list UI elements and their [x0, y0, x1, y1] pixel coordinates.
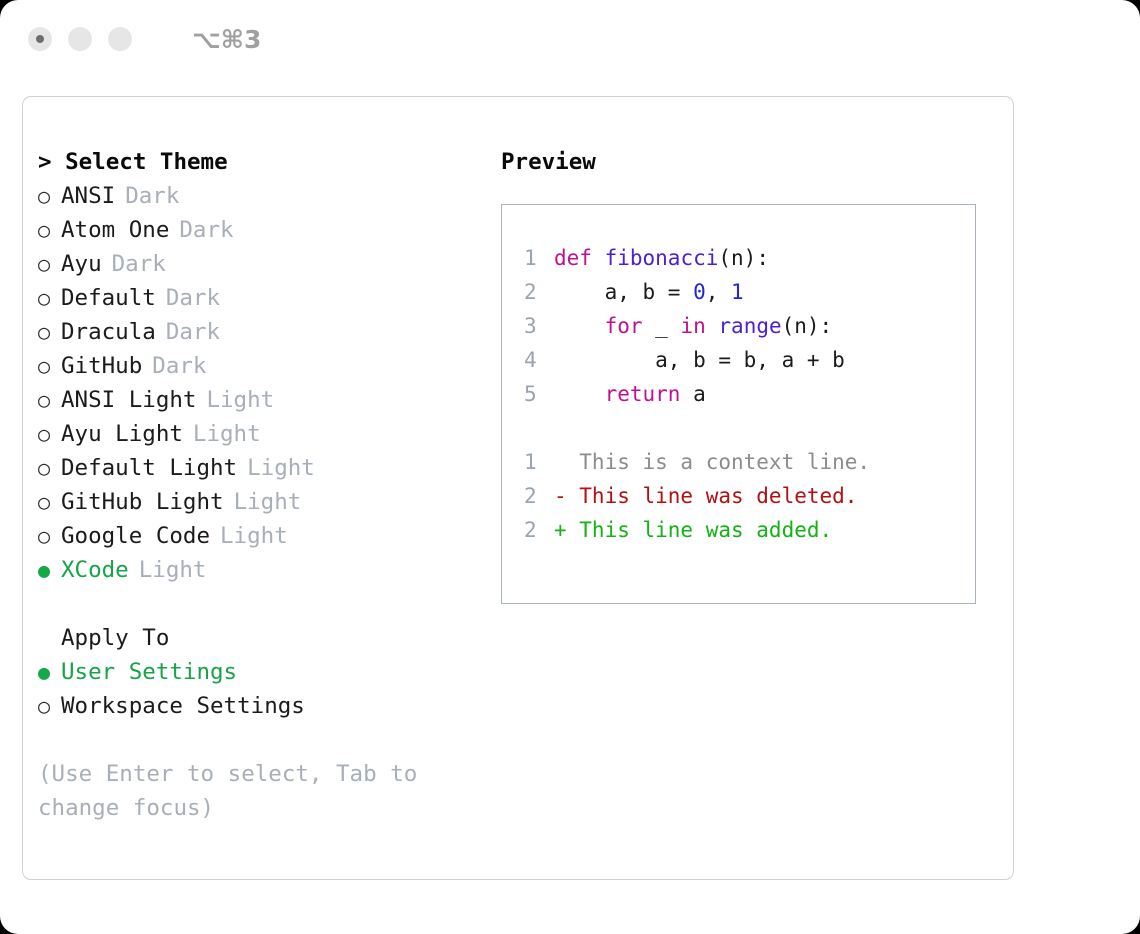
apply-to-option-label: Workspace Settings	[61, 689, 305, 723]
diff-line-content: + This line was added.	[554, 513, 832, 547]
line-number: 4	[524, 343, 554, 377]
apply-to-option-label: User Settings	[61, 655, 237, 689]
theme-option-label: Ayu	[61, 247, 102, 281]
code-line-content: def fibonacci(n):	[554, 241, 769, 275]
code-token-plain	[706, 314, 719, 338]
theme-option-label: Atom One	[61, 213, 169, 247]
code-token-kw: return	[605, 382, 681, 406]
preview-heading: Preview	[501, 145, 1001, 179]
traffic-light-2-icon[interactable]	[68, 27, 92, 51]
theme-option-label: Google Code	[61, 519, 210, 553]
theme-option-ayu-light[interactable]: ○Ayu LightLight	[38, 417, 488, 451]
code-token-plain	[554, 382, 605, 406]
code-line-content: return a	[554, 377, 706, 411]
code-line: 3 for _ in range(n):	[524, 309, 975, 343]
keyboard-hint-text: (Use Enter to select, Tab to change focu…	[38, 757, 458, 825]
code-preview-box: 1def fibonacci(n):2 a, b = 0, 13 for _ i…	[501, 204, 976, 604]
code-token-plain: a, b =	[554, 280, 693, 304]
apply-to-heading: Apply To	[38, 621, 488, 655]
code-token-plain: (n):	[718, 246, 769, 270]
radio-selected-icon: ●	[38, 655, 61, 689]
diff-line: 2- This line was deleted.	[524, 479, 975, 513]
theme-option-ansi[interactable]: ○ANSIDark	[38, 179, 488, 213]
theme-option-default[interactable]: ○DefaultDark	[38, 281, 488, 315]
theme-option-atom-one[interactable]: ○Atom OneDark	[38, 213, 488, 247]
code-line: 2 a, b = 0, 1	[524, 275, 975, 309]
code-token-plain: a, b = b, a + b	[554, 348, 845, 372]
diff-sample: 1 This is a context line.2- This line wa…	[524, 445, 975, 547]
theme-option-kind-badge: Light	[220, 519, 288, 553]
line-number: 2	[524, 513, 554, 547]
theme-option-kind-badge: Dark	[166, 281, 220, 315]
code-token-kw: for	[605, 314, 643, 338]
line-number: 1	[524, 241, 554, 275]
line-number: 2	[524, 479, 554, 513]
code-token-kw: in	[680, 314, 705, 338]
code-line: 4 a, b = b, a + b	[524, 343, 975, 377]
traffic-light-3-icon[interactable]	[108, 27, 132, 51]
code-token-num: 0	[693, 280, 706, 304]
code-token-plain: a	[680, 382, 705, 406]
diff-line: 1 This is a context line.	[524, 445, 975, 479]
radio-unselected-icon: ○	[38, 383, 61, 417]
traffic-light-active-icon[interactable]	[28, 27, 52, 51]
theme-option-google-code[interactable]: ○Google CodeLight	[38, 519, 488, 553]
theme-option-kind-badge: Dark	[179, 213, 233, 247]
theme-option-xcode[interactable]: ●XCodeLight	[38, 553, 488, 587]
code-token-fn: fibonacci	[605, 246, 719, 270]
section-spacer	[38, 587, 488, 621]
theme-option-list: ○ANSIDark○Atom OneDark○AyuDark○DefaultDa…	[38, 179, 488, 587]
code-token-plain	[554, 314, 605, 338]
theme-option-label: GitHub Light	[61, 485, 224, 519]
radio-unselected-icon: ○	[38, 281, 61, 315]
keyboard-shortcut-label: ⌥⌘3	[192, 25, 261, 54]
radio-unselected-icon: ○	[38, 247, 61, 281]
radio-unselected-icon: ○	[38, 451, 61, 485]
theme-option-kind-badge: Light	[247, 451, 315, 485]
code-token-num: 1	[731, 280, 744, 304]
theme-option-kind-badge: Dark	[166, 315, 220, 349]
theme-option-label: GitHub	[61, 349, 142, 383]
theme-option-kind-badge: Dark	[125, 179, 179, 213]
radio-selected-icon: ●	[38, 553, 61, 587]
radio-unselected-icon: ○	[38, 485, 61, 519]
line-number: 3	[524, 309, 554, 343]
theme-option-kind-badge: Dark	[152, 349, 206, 383]
theme-option-github-light[interactable]: ○GitHub LightLight	[38, 485, 488, 519]
diff-line-content: This is a context line.	[554, 445, 870, 479]
radio-unselected-icon: ○	[38, 315, 61, 349]
apply-to-option-workspace-settings[interactable]: ○Workspace Settings	[38, 689, 488, 723]
theme-option-label: Ayu Light	[61, 417, 183, 451]
line-number: 5	[524, 377, 554, 411]
traffic-light-dot-inner	[36, 35, 44, 43]
code-token-plain	[592, 246, 605, 270]
code-line: 5 return a	[524, 377, 975, 411]
app-window: ⌥⌘3 > Select Theme ○ANSIDark○Atom OneDar…	[0, 0, 1140, 934]
code-blank-line	[524, 411, 975, 445]
diff-line: 2+ This line was added.	[524, 513, 975, 547]
theme-option-label: Dracula	[61, 315, 156, 349]
line-number: 2	[524, 275, 554, 309]
theme-option-label: Default Light	[61, 451, 237, 485]
code-line-content: a, b = 0, 1	[554, 275, 744, 309]
theme-option-github[interactable]: ○GitHubDark	[38, 349, 488, 383]
theme-option-kind-badge: Light	[139, 553, 207, 587]
radio-unselected-icon: ○	[38, 417, 61, 451]
diff-line-content: - This line was deleted.	[554, 479, 857, 513]
theme-option-ansi-light[interactable]: ○ANSI LightLight	[38, 383, 488, 417]
radio-unselected-icon: ○	[38, 349, 61, 383]
apply-to-option-user-settings[interactable]: ●User Settings	[38, 655, 488, 689]
code-line: 1def fibonacci(n):	[524, 241, 975, 275]
theme-option-label: XCode	[61, 553, 129, 587]
radio-unselected-icon: ○	[38, 213, 61, 247]
code-token-kw: def	[554, 246, 592, 270]
code-line-content: a, b = b, a + b	[554, 343, 845, 377]
code-line-content: for _ in range(n):	[554, 309, 832, 343]
line-number: 1	[524, 445, 554, 479]
title-bar: ⌥⌘3	[0, 0, 1140, 78]
radio-unselected-icon: ○	[38, 179, 61, 213]
theme-option-dracula[interactable]: ○DraculaDark	[38, 315, 488, 349]
code-sample: 1def fibonacci(n):2 a, b = 0, 13 for _ i…	[524, 241, 975, 411]
select-theme-heading: > Select Theme	[38, 145, 488, 179]
code-token-plain: (n):	[782, 314, 833, 338]
theme-option-label: ANSI Light	[61, 383, 196, 417]
radio-unselected-icon: ○	[38, 519, 61, 553]
theme-option-label: Default	[61, 281, 156, 315]
code-token-plain: ,	[706, 280, 731, 304]
radio-unselected-icon: ○	[38, 689, 61, 723]
apply-to-option-list: ●User Settings○Workspace Settings	[38, 655, 488, 723]
traffic-light-group	[28, 27, 148, 51]
theme-option-kind-badge: Light	[234, 485, 302, 519]
theme-selection-column: > Select Theme ○ANSIDark○Atom OneDark○Ay…	[38, 145, 488, 825]
code-token-fn: range	[718, 314, 781, 338]
theme-option-kind-badge: Light	[206, 383, 274, 417]
preview-column: Preview 1def fibonacci(n):2 a, b = 0, 13…	[501, 145, 1001, 604]
theme-option-kind-badge: Light	[193, 417, 261, 451]
theme-option-label: ANSI	[61, 179, 115, 213]
main-panel: > Select Theme ○ANSIDark○Atom OneDark○Ay…	[22, 96, 1014, 880]
theme-option-kind-badge: Dark	[112, 247, 166, 281]
code-token-plain: _	[643, 314, 681, 338]
theme-option-ayu[interactable]: ○AyuDark	[38, 247, 488, 281]
theme-option-default-light[interactable]: ○Default LightLight	[38, 451, 488, 485]
